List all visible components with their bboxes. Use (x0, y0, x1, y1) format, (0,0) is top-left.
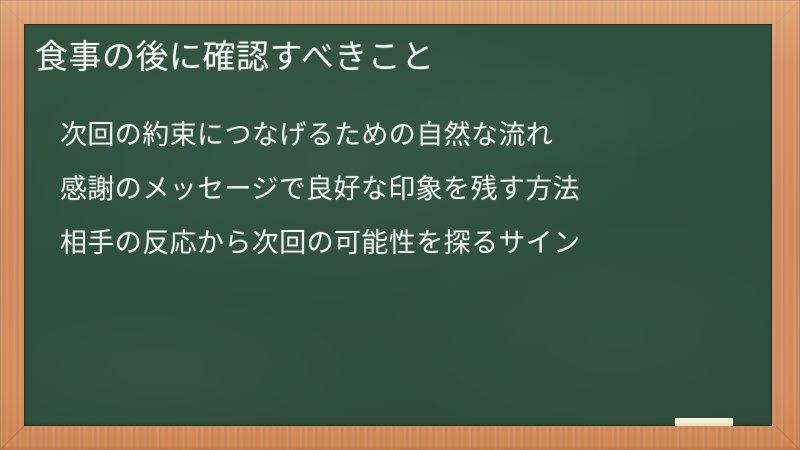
chalkboard-slide: 食事の後に確認すべきこと 次回の約束につなげるための自然な流れ 感謝のメッセージ… (0, 0, 800, 450)
chalkboard-surface: 食事の後に確認すべきこと 次回の約束につなげるための自然な流れ 感謝のメッセージ… (24, 24, 772, 426)
chalk-eraser-icon (675, 418, 733, 426)
slide-title: 食事の後に確認すべきこと (35, 35, 755, 79)
bullet-item-3: 相手の反応から次回の可能性を探るサイン (60, 216, 760, 270)
bullet-item-2: 感謝のメッセージで良好な印象を残す方法 (60, 162, 760, 216)
bullet-item-1: 次回の約束につなげるための自然な流れ (60, 108, 760, 162)
bullet-list: 次回の約束につなげるための自然な流れ 感謝のメッセージで良好な印象を残す方法 相… (60, 108, 760, 270)
